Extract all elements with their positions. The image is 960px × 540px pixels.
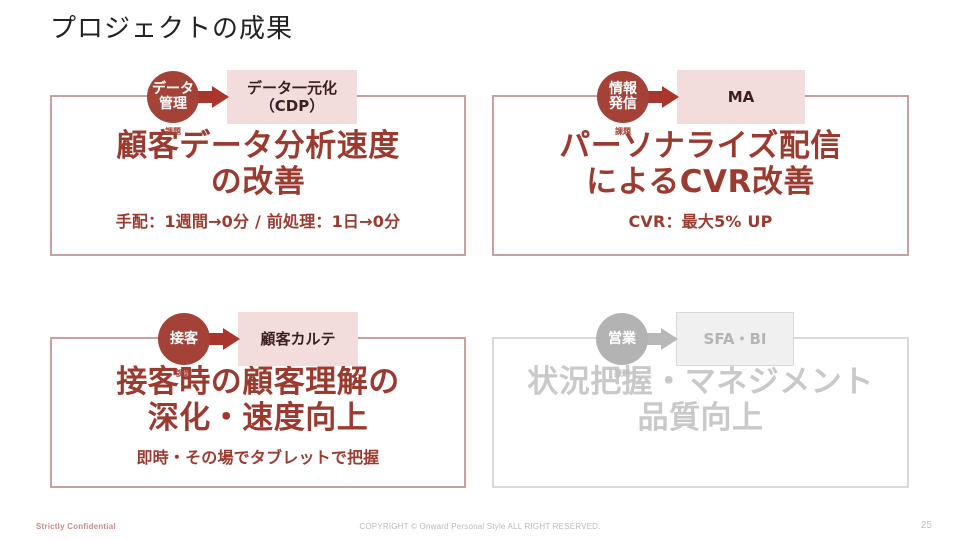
page-number: 25 [921, 520, 932, 531]
card-body: 接客時の顧客理解の 深化・速度向上 即時・その場でタブレットで把握 [50, 364, 466, 468]
system-box-karte: 顧客カルテ [238, 312, 358, 366]
card-heading: 顧客データ分析速度 の改善 [50, 128, 466, 201]
badge-row: 接客 課題 顧客カルテ [158, 312, 358, 366]
card-body: パーソナライズ配信 によるCVR改善 CVR：最大5% UP [492, 128, 909, 232]
card-subtitle: 即時・その場でタブレットで把握 [50, 444, 466, 468]
circle-note: 課題 [147, 128, 199, 136]
card-body: 状況把握・マネジメント 品質向上 [492, 364, 909, 444]
card-heading: パーソナライズ配信 によるCVR改善 [492, 128, 909, 201]
system-box-sfa-bi: SFA・BI [676, 312, 794, 366]
circle-line-1: 接客 [170, 332, 198, 347]
circle-note: 課題 [158, 370, 210, 378]
badge-row: 情報 発信 課題 MA [597, 70, 805, 124]
circle-line-2: 管理 [159, 97, 187, 112]
card-body: 顧客データ分析速度 の改善 手配：1週間→0分 / 前処理：1日→0分 [50, 128, 466, 232]
circle-note: 課題 [597, 128, 649, 136]
card-heading: 接客時の顧客理解の 深化・速度向上 [50, 364, 466, 437]
slide-root: プロジェクトの成果 データ 管理 課題 データ一元化 （CDP） 顧客データ分析… [0, 0, 960, 540]
system-box-cdp: データ一元化 （CDP） [227, 70, 357, 124]
copyright-label: COPYRIGHT © Onward Personal Style ALL RI… [0, 522, 960, 531]
stage-circle-data-management: データ 管理 課題 [147, 71, 199, 123]
result-card-cdp: データ 管理 課題 データ一元化 （CDP） 顧客データ分析速度 の改善 手配：… [50, 70, 466, 256]
circle-line-2: 発信 [609, 97, 637, 112]
stage-circle-customer-service: 接客 課題 [158, 313, 210, 365]
stage-circle-sales: 営業 課題 [596, 313, 648, 365]
result-card-sfa-bi: 営業 課題 SFA・BI 状況把握・マネジメント 品質向上 [492, 312, 909, 488]
card-subtitle: CVR：最大5% UP [492, 208, 909, 232]
card-subtitle: 手配：1週間→0分 / 前処理：1日→0分 [50, 208, 466, 232]
circle-line-1: 営業 [608, 332, 636, 347]
system-box-ma: MA [677, 70, 805, 124]
badge-row: 営業 課題 SFA・BI [596, 312, 794, 366]
stage-circle-information: 情報 発信 課題 [597, 71, 649, 123]
card-heading: 状況把握・マネジメント 品質向上 [492, 364, 909, 437]
badge-row: データ 管理 課題 データ一元化 （CDP） [147, 70, 357, 124]
circle-line-1: 情報 [609, 82, 637, 97]
circle-note: 課題 [596, 370, 648, 378]
circle-line-1: データ [152, 82, 194, 97]
page-title: プロジェクトの成果 [50, 8, 293, 45]
result-card-karte: 接客 課題 顧客カルテ 接客時の顧客理解の 深化・速度向上 即時・その場でタブレ… [50, 312, 466, 488]
result-card-ma: 情報 発信 課題 MA パーソナライズ配信 によるCVR改善 CVR：最大5% … [492, 70, 909, 256]
